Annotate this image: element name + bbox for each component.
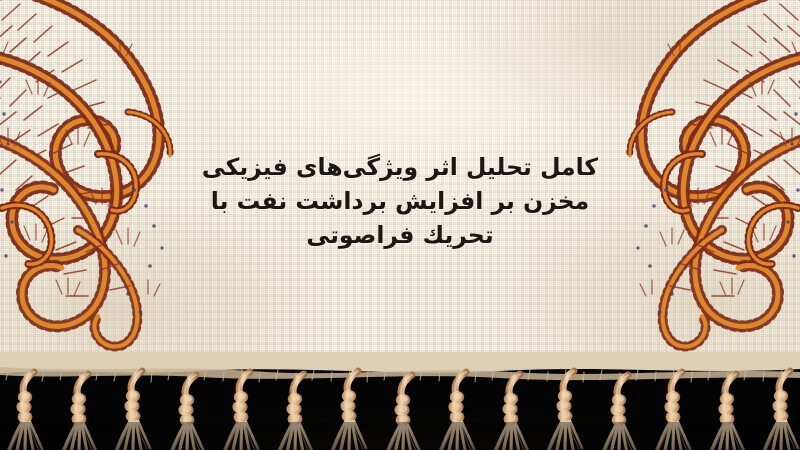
title-line-2: مخزن بر افزایش برداشت نفت با — [0, 184, 800, 218]
title-line-1: کامل تحلیل اثر ویژگی‌های فیزیکی — [0, 150, 800, 184]
title-slide: کامل تحلیل اثر ویژگی‌های فیزیکی مخزن بر … — [0, 0, 800, 450]
slide-title: کامل تحلیل اثر ویژگی‌های فیزیکی مخزن بر … — [0, 150, 800, 252]
title-line-3: تحریك فراصوتی — [0, 218, 800, 252]
knotted-tassel-fringe — [0, 352, 800, 450]
